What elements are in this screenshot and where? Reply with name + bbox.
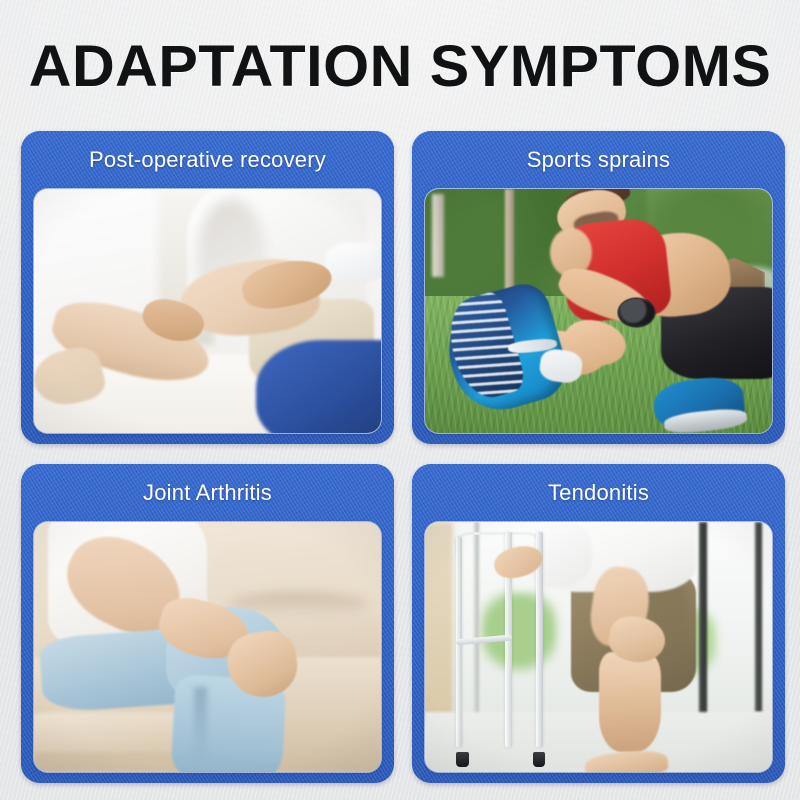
photo-jeans-fold bbox=[194, 687, 208, 762]
panel-photo-tendonitis bbox=[425, 522, 772, 772]
panel-photo-joint-arthritis bbox=[34, 522, 381, 772]
photo-blue-cloth bbox=[256, 340, 381, 433]
photo-illustration-sports-sprains bbox=[425, 189, 772, 433]
photo-foliage-left bbox=[481, 592, 557, 677]
photo-post-center bbox=[505, 189, 514, 291]
panel-photo-sports-sprains bbox=[425, 189, 772, 433]
photo-illustration-tendonitis bbox=[425, 522, 772, 772]
panel-photo-post-operative-recovery bbox=[34, 189, 381, 433]
photo-elderly-leg bbox=[599, 652, 661, 752]
panel-label-tendonitis: Tendonitis bbox=[412, 464, 785, 522]
panel-label-post-operative-recovery: Post-operative recovery bbox=[21, 131, 394, 189]
panel-label-sports-sprains: Sports sprains bbox=[412, 131, 785, 189]
panel-card-joint-arthritis[interactable]: Joint Arthritis bbox=[21, 464, 394, 783]
photo-post-left bbox=[432, 194, 444, 277]
panel-label-joint-arthritis: Joint Arthritis bbox=[21, 464, 394, 522]
photo-walker-foot-b bbox=[533, 752, 545, 767]
panel-card-tendonitis[interactable]: Tendonitis bbox=[412, 464, 785, 783]
photo-curtain bbox=[425, 522, 453, 722]
panel-card-post-operative-recovery[interactable]: Post-operative recovery bbox=[21, 131, 394, 444]
photo-doctor-cuff bbox=[325, 243, 381, 282]
photo-illustration-post-operative-recovery bbox=[34, 189, 381, 433]
photo-window-frame-far-right bbox=[755, 522, 761, 712]
page-title: ADAPTATION SYMPTOMS bbox=[0, 38, 800, 96]
symptom-panel-grid: Post-operative recovery Sports sprai bbox=[21, 131, 785, 783]
panel-card-sports-sprains[interactable]: Sports sprains bbox=[412, 131, 785, 444]
photo-window-frame-right bbox=[699, 522, 707, 717]
photo-walker-foot-a bbox=[456, 752, 468, 767]
photo-illustration-joint-arthritis bbox=[34, 522, 381, 772]
page-title-text: ADAPTATION SYMPTOMS bbox=[29, 38, 772, 96]
photo-wristwatch bbox=[619, 299, 654, 326]
